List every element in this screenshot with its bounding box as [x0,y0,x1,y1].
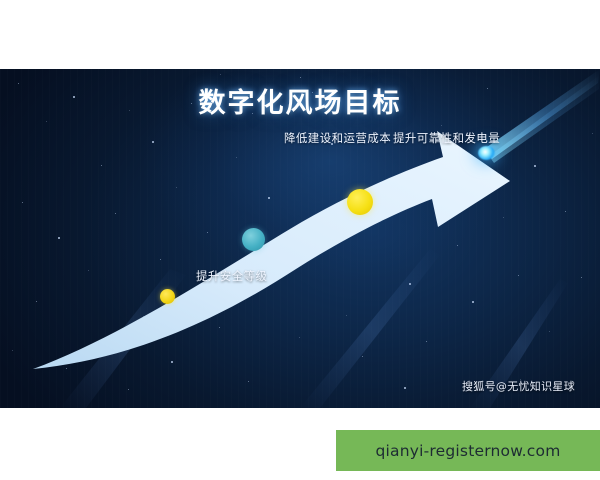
comet-icon [478,146,495,160]
marker-teal [242,228,265,251]
page-title: 数字化风场目标 [0,81,600,120]
presentation-slide: 数字化风场目标 降低建设和运营成本 提升可靠性和发电量 提升安全等级 搜狐号@无… [0,69,600,408]
label-safety-level: 提升安全等级 [196,269,316,284]
label-reduce-cost: 降低建设和运营成本 [284,131,394,146]
url-banner-text: qianyi-registernow.com [375,442,560,460]
curved-arrow [33,131,510,369]
marker-small-yellow [160,289,175,304]
watermark: 搜狐号@无忧知识星球 [462,378,575,394]
marker-large-yellow [347,189,373,215]
label-reliability: 提升可靠性和发电量 [393,131,503,146]
url-banner[interactable]: qianyi-registernow.com [336,430,600,471]
screenshot-root: 数字化风场目标 降低建设和运营成本 提升可靠性和发电量 提升安全等级 搜狐号@无… [0,0,600,480]
